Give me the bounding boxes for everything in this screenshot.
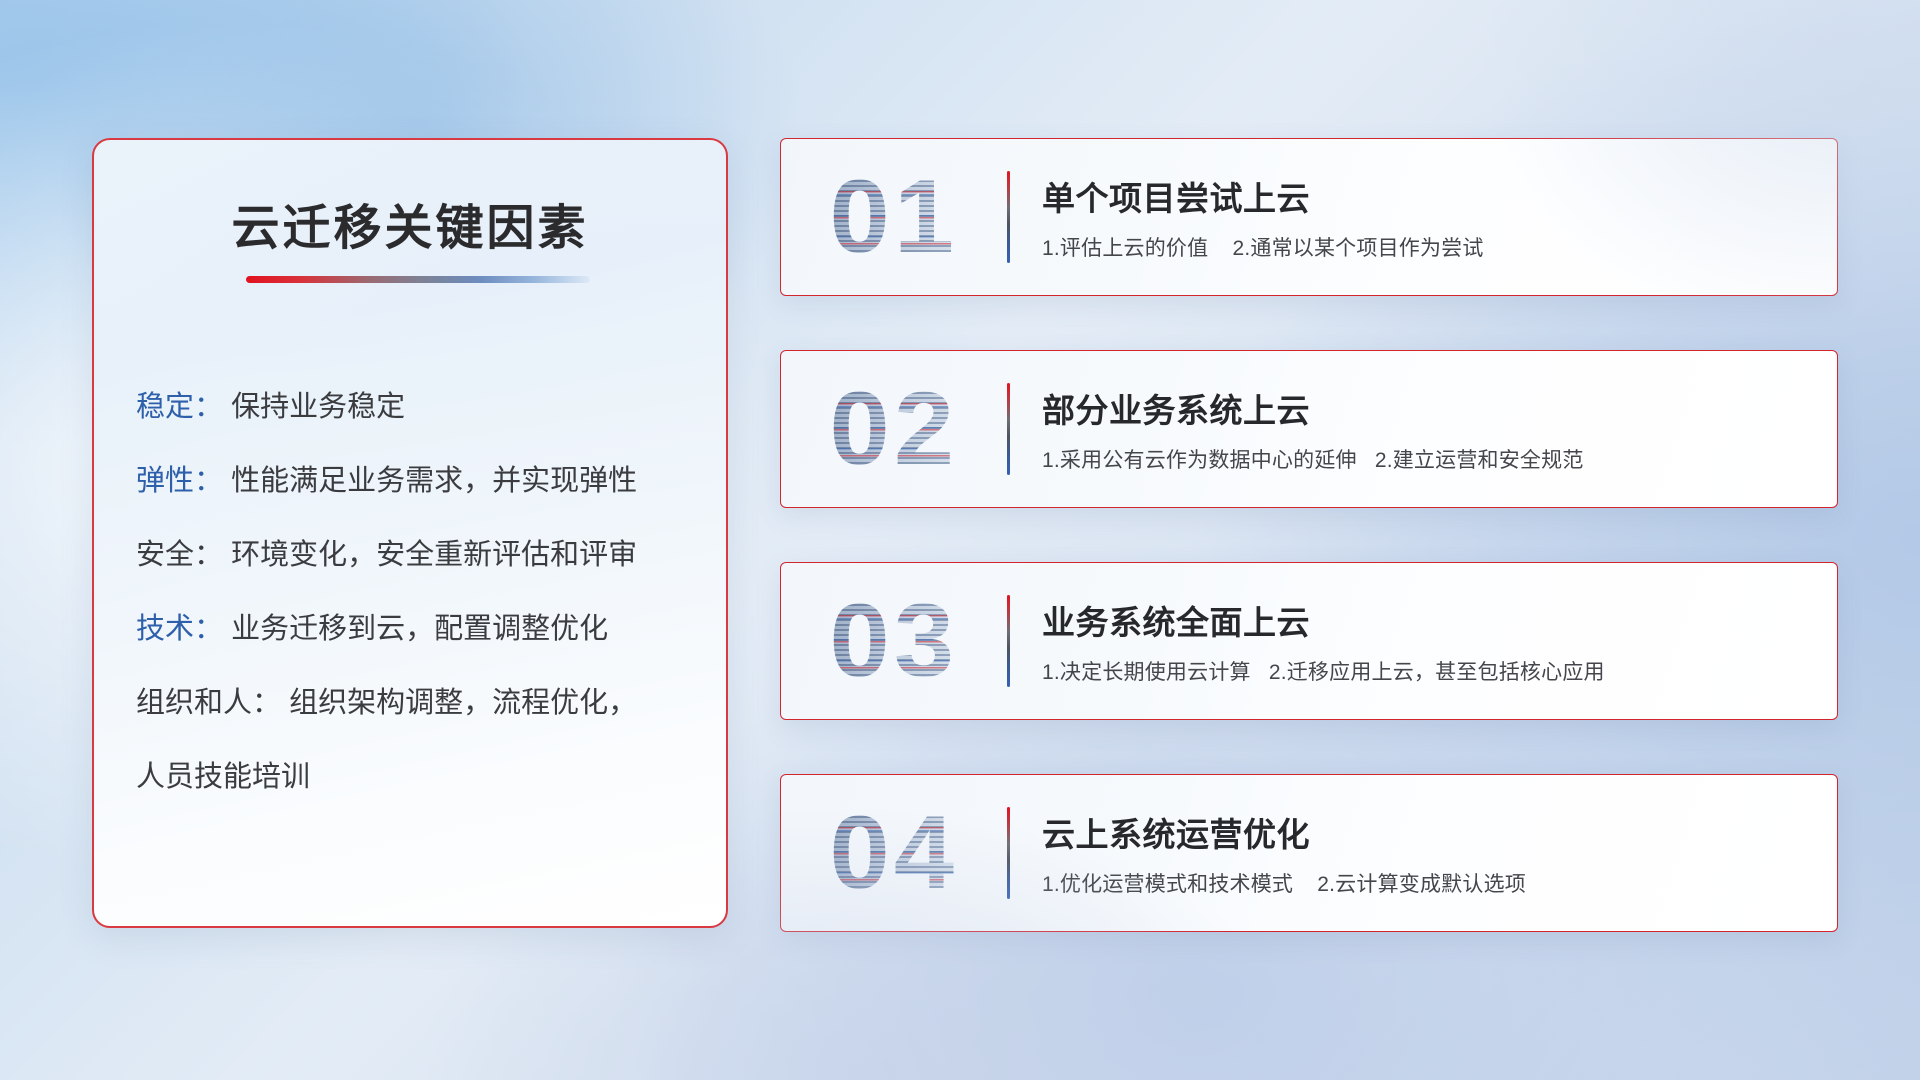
stage-card-02[interactable]: 02 02 部分业务系统上云 1.采用公有云作为数据中心的延伸 2.建立运营和安… [780, 350, 1838, 508]
factor-key: 弹性： [136, 465, 223, 497]
list-item: 组织和人： 组织架构调整，流程优化， [136, 666, 696, 740]
stage-card-title: 云上系统运营优化 [1042, 808, 1813, 856]
stage-card-list: 01 01 单个项目尝试上云 1.评估上云的价值 2.通常以某个项目作为尝试 0… [780, 138, 1838, 932]
stage-number-01: 01 01 [781, 139, 1007, 295]
key-factors-panel-inner: 云迁移关键因素 稳定： 保持业务稳定 弹性： 性能满足业务需求，并实现弹性 安全… [94, 140, 726, 926]
stage-number-text: 04 [830, 801, 959, 905]
factor-value: 环境变化，安全重新评估和评审 [231, 539, 637, 571]
stage-card-title: 业务系统全面上云 [1042, 596, 1813, 644]
stage-number-text: 02 [830, 377, 959, 481]
factor-key: 组织和人： [136, 687, 281, 719]
slide-canvas: 云迁移关键因素 稳定： 保持业务稳定 弹性： 性能满足业务需求，并实现弹性 安全… [0, 0, 1920, 1080]
factor-key: 技术： [136, 613, 223, 645]
stage-card-description: 1.决定长期使用云计算 2.迁移应用上云，甚至包括核心应用 [1042, 656, 1813, 686]
stage-card-description: 1.采用公有云作为数据中心的延伸 2.建立运营和安全规范 [1042, 444, 1813, 474]
list-item-continued: 人员技能培训 [136, 740, 696, 814]
factor-list: 稳定： 保持业务稳定 弹性： 性能满足业务需求，并实现弹性 安全： 环境变化，安… [136, 370, 696, 814]
stage-card-description: 1.优化运营模式和技术模式 2.云计算变成默认选项 [1042, 868, 1813, 898]
stage-card-body: 部分业务系统上云 1.采用公有云作为数据中心的延伸 2.建立运营和安全规范 [1010, 384, 1837, 474]
list-item: 安全： 环境变化，安全重新评估和评审 [136, 518, 696, 592]
list-item: 稳定： 保持业务稳定 [136, 370, 696, 444]
stage-card-description: 1.评估上云的价值 2.通常以某个项目作为尝试 [1042, 232, 1813, 262]
stage-number-04: 04 04 [781, 775, 1007, 931]
stage-number-02: 02 02 [781, 351, 1007, 507]
list-item: 技术： 业务迁移到云，配置调整优化 [136, 592, 696, 666]
factor-key: 稳定： [136, 391, 223, 423]
stage-card-01[interactable]: 01 01 单个项目尝试上云 1.评估上云的价值 2.通常以某个项目作为尝试 [780, 138, 1838, 296]
factor-key: 安全： [136, 539, 223, 571]
stage-card-04[interactable]: 04 04 云上系统运营优化 1.优化运营模式和技术模式 2.云计算变成默认选项 [780, 774, 1838, 932]
page-title: 云迁移关键因素 [94, 188, 726, 258]
factor-value: 人员技能培训 [136, 761, 310, 793]
factor-value: 业务迁移到云，配置调整优化 [231, 613, 608, 645]
factor-value: 保持业务稳定 [231, 391, 405, 423]
stage-card-title: 部分业务系统上云 [1042, 384, 1813, 432]
list-item: 弹性： 性能满足业务需求，并实现弹性 [136, 444, 696, 518]
stage-card-03[interactable]: 03 03 业务系统全面上云 1.决定长期使用云计算 2.迁移应用上云，甚至包括… [780, 562, 1838, 720]
stage-card-body: 云上系统运营优化 1.优化运营模式和技术模式 2.云计算变成默认选项 [1010, 808, 1837, 898]
stage-number-text: 03 [830, 589, 959, 693]
stage-number-03: 03 03 [781, 563, 1007, 719]
stage-card-title: 单个项目尝试上云 [1042, 172, 1813, 220]
factor-value: 性能满足业务需求，并实现弹性 [231, 465, 637, 497]
stage-card-body: 单个项目尝试上云 1.评估上云的价值 2.通常以某个项目作为尝试 [1010, 172, 1837, 262]
stage-number-text: 01 [830, 165, 959, 269]
stage-card-body: 业务系统全面上云 1.决定长期使用云计算 2.迁移应用上云，甚至包括核心应用 [1010, 596, 1837, 686]
factor-value: 组织架构调整，流程优化， [289, 687, 637, 719]
key-factors-panel: 云迁移关键因素 稳定： 保持业务稳定 弹性： 性能满足业务需求，并实现弹性 安全… [92, 138, 728, 928]
title-underline-rule [246, 276, 590, 283]
